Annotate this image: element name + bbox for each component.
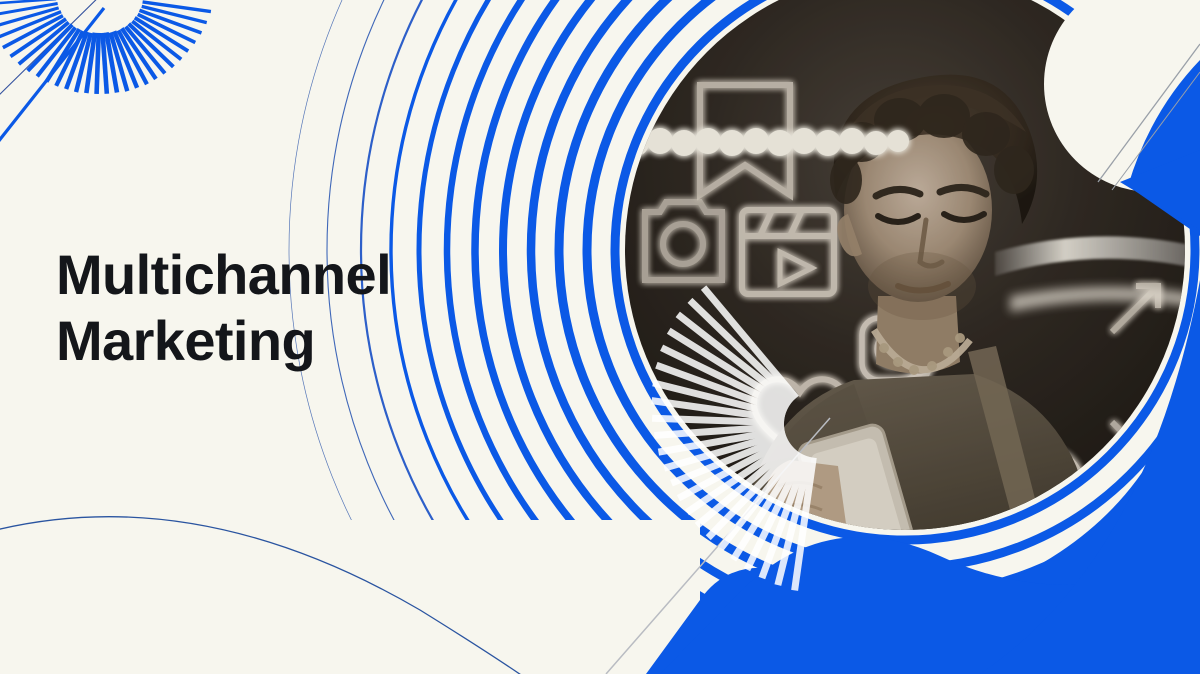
- page-title-line-2: Marketing: [56, 308, 576, 374]
- slide-canvas: Multichannel Marketing: [0, 0, 1200, 674]
- page-title: Multichannel Marketing: [56, 242, 576, 374]
- blue-sunburst-icon: [0, 0, 211, 94]
- page-title-line-1: Multichannel: [56, 242, 576, 308]
